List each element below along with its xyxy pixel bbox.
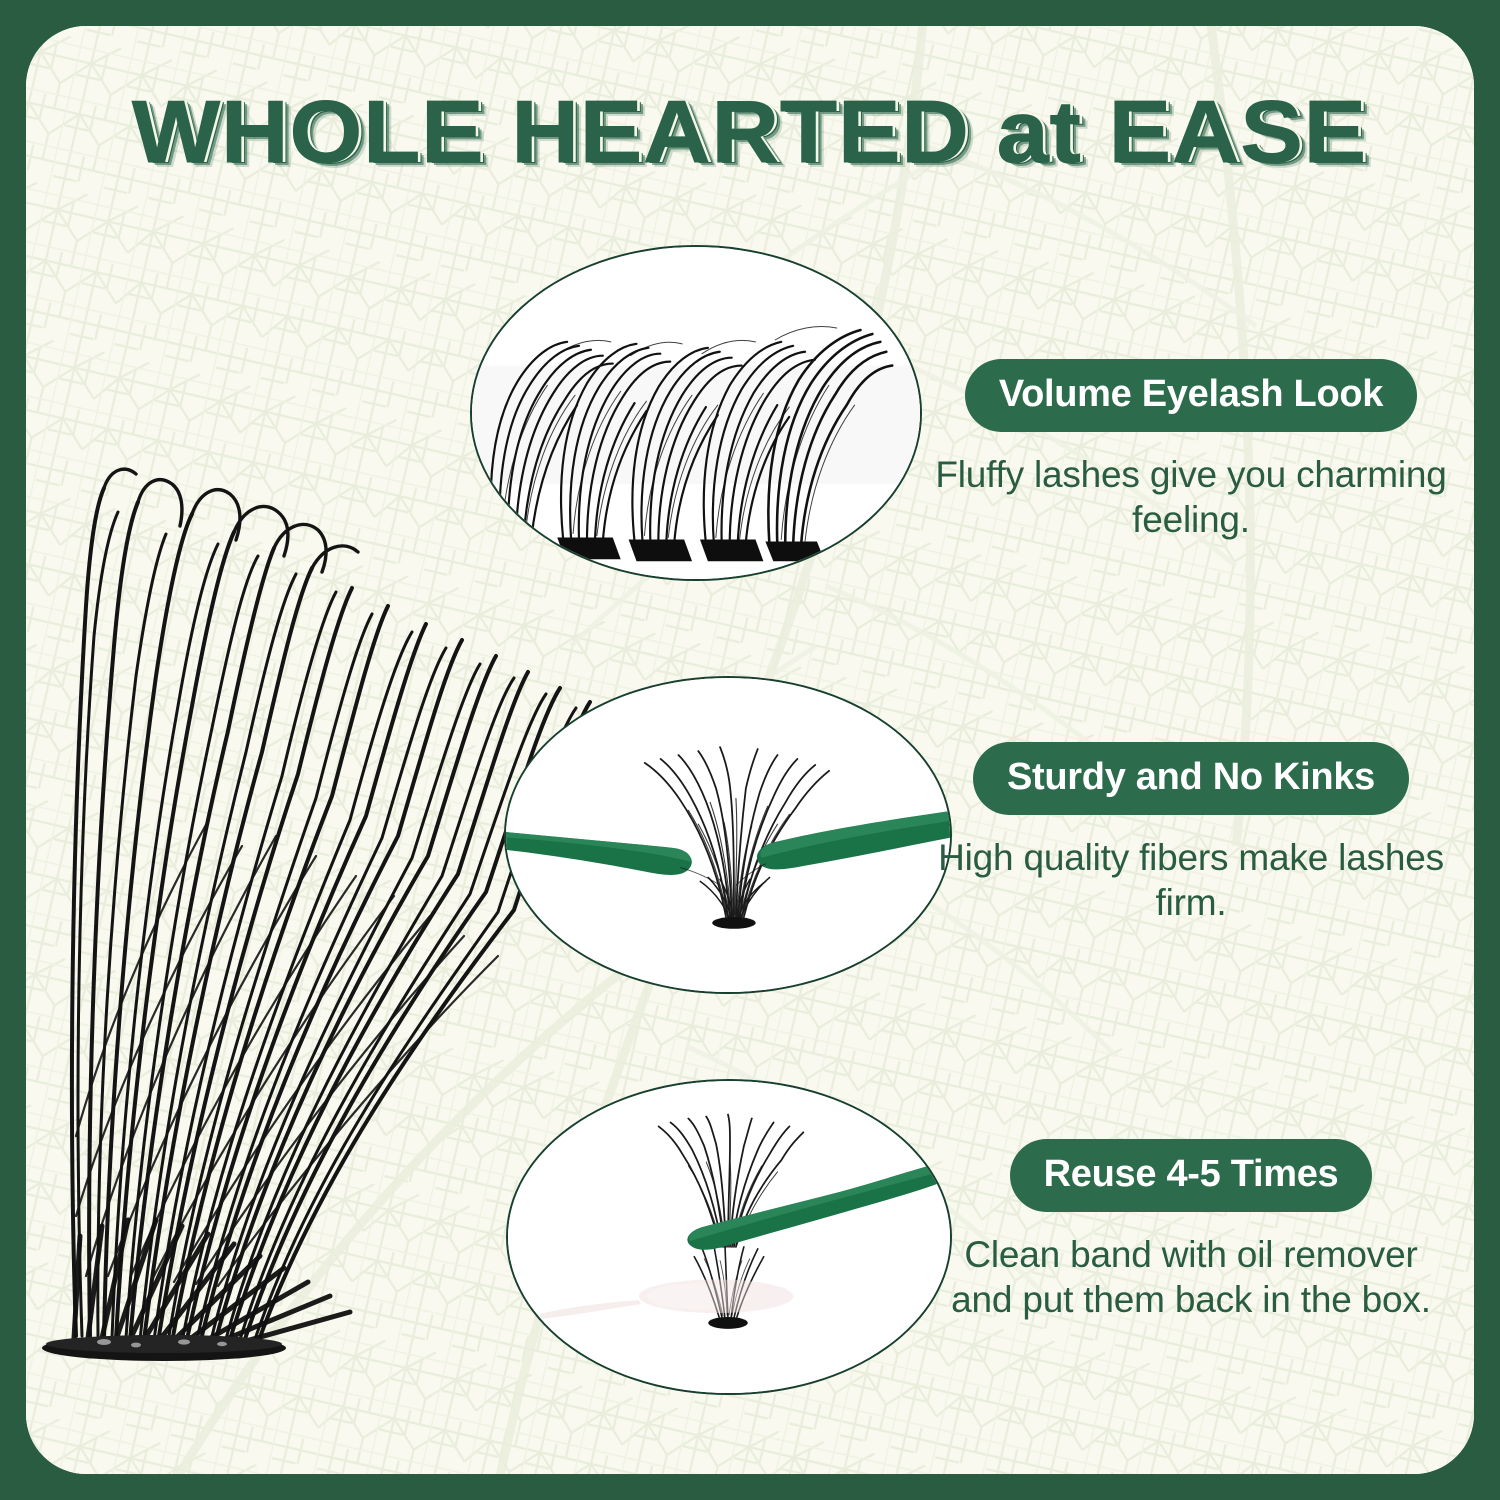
feature-description-sturdy-and-no-kinks: High quality fibers make lashes firm.: [931, 835, 1451, 925]
feature-block-1: Volume Eyelash Look Fluffy lashes give y…: [931, 359, 1451, 542]
feature-badge-volume-eyelash-look: Volume Eyelash Look: [965, 359, 1417, 432]
feature-block-3: Reuse 4-5 Times Clean band with oil remo…: [931, 1139, 1451, 1322]
feature-description-reuse-4-5-times: Clean band with oil remover and put them…: [931, 1232, 1451, 1322]
feature-image-reuse-4-5-times: [506, 1079, 952, 1395]
feature-image-volume-eyelash-look: [470, 245, 922, 581]
poster-card: WHOLE HEARTED at EASE: [26, 26, 1474, 1474]
poster-root: WHOLE HEARTED at EASE: [0, 0, 1500, 1500]
feature-description-volume-eyelash-look: Fluffy lashes give you charming feeling.: [931, 452, 1451, 542]
feature-badge-reuse-4-5-times: Reuse 4-5 Times: [1010, 1139, 1373, 1212]
feature-block-2: Sturdy and No Kinks High quality fibers …: [931, 742, 1451, 925]
feature-badge-sturdy-and-no-kinks: Sturdy and No Kinks: [973, 742, 1409, 815]
feature-image-sturdy-no-kinks: [504, 676, 952, 994]
